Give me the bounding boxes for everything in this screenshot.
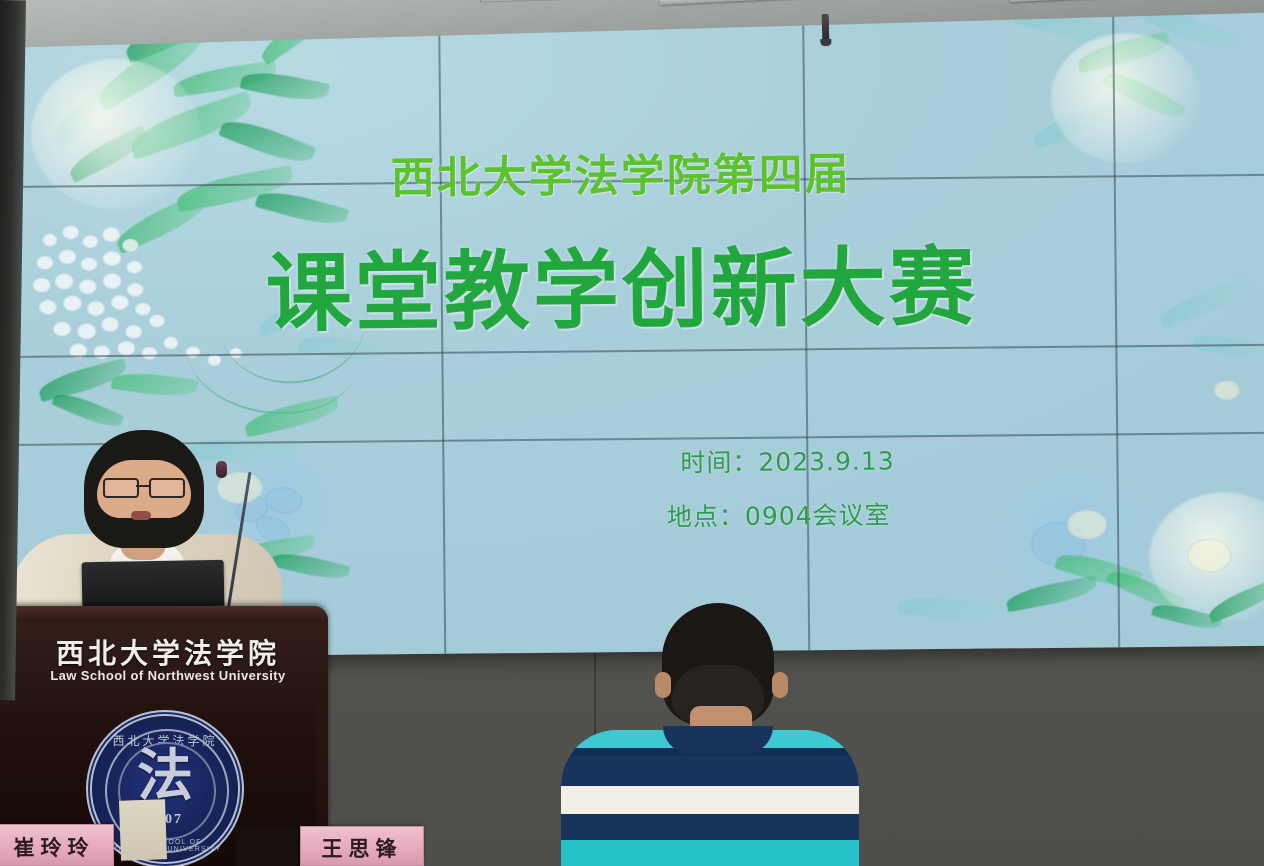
- conference-room-photo: 西北大学法学院第四届 课堂教学创新大赛 时间：2023.9.13 地点：0904…: [0, 0, 1264, 866]
- speaker-mouth: [131, 511, 151, 520]
- audience-ear: [655, 672, 671, 698]
- microphone-icon: [216, 461, 227, 478]
- glasses-icon: [103, 478, 185, 494]
- screen-panel-seam-horizontal: [8, 432, 1264, 446]
- slide-time-line: 时间：2023.9.13: [680, 441, 895, 479]
- podium-chinese-name: 西北大学法学院: [28, 632, 308, 672]
- paper-sheet: [119, 799, 167, 861]
- podium-top-edge: [0, 606, 328, 622]
- sprinkler-icon: [822, 14, 830, 40]
- laptop-icon: [82, 560, 225, 608]
- nameplate-left: 崔玲玲: [0, 824, 114, 866]
- emblem-character: 法: [118, 746, 212, 808]
- nameplate-right: 王思锋: [300, 826, 424, 866]
- slide-title: 课堂教学创新大赛: [6, 214, 1237, 351]
- audience-collar: [663, 726, 773, 754]
- dark-object: [236, 826, 298, 866]
- podium-english-name: Law School of Northwest University: [28, 668, 308, 683]
- slide-place-line: 地点：0904会议室: [667, 496, 891, 534]
- audience-ear: [772, 672, 788, 698]
- slide-subtitle: 西北大学法学院第四届: [5, 134, 1236, 210]
